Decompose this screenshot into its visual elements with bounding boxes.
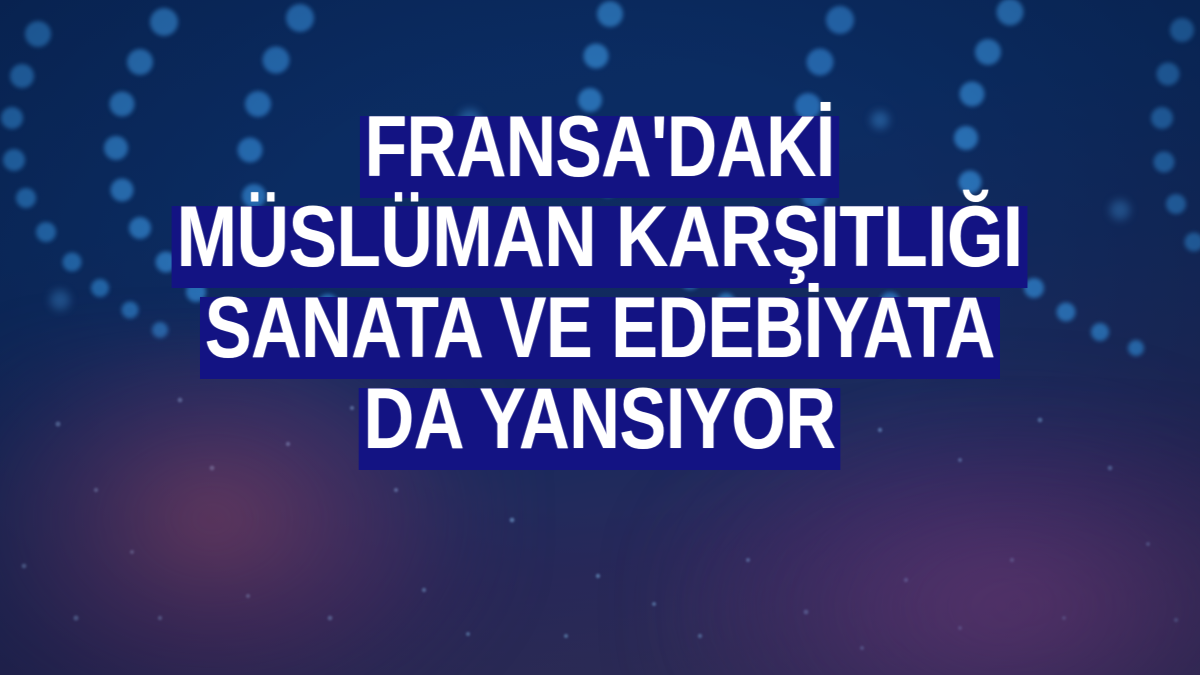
headline-block: FRANSA'DAKİ MÜSLÜMAN KARŞITLIĞI SANATA V… (0, 0, 1200, 675)
headline-line-1: FRANSA'DAKİ (365, 108, 835, 188)
headline-line-2-text: MÜSLÜMAN KARŞITLIĞI (177, 198, 1023, 278)
headline-line-3-text: SANATA VE EDEBİYATA (205, 289, 995, 369)
headline-line-3: SANATA VE EDEBİYATA (205, 289, 995, 369)
headline-line-2: MÜSLÜMAN KARŞITLIĞI (177, 198, 1023, 278)
headline-line-4: DA YANSIYOR (364, 380, 836, 460)
headline-line-4-text: DA YANSIYOR (364, 380, 836, 460)
news-banner: FRANSA'DAKİ MÜSLÜMAN KARŞITLIĞI SANATA V… (0, 0, 1200, 675)
headline-line-1-text: FRANSA'DAKİ (365, 108, 835, 188)
